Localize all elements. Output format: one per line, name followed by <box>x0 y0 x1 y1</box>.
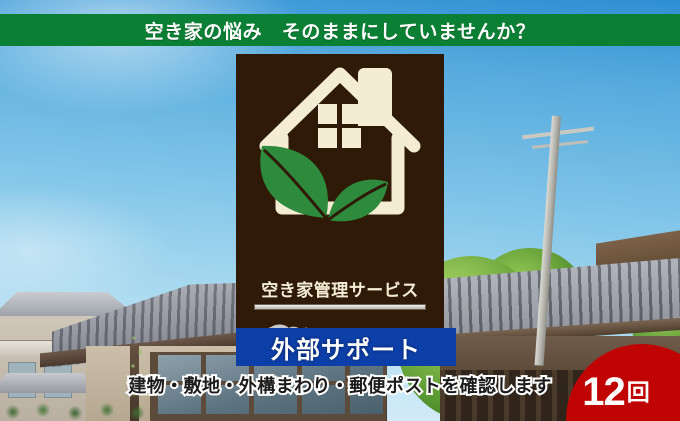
house-with-leaves-icon <box>252 62 428 224</box>
service-title: 空き家管理サービス <box>236 276 444 301</box>
hedge-front <box>0 398 155 421</box>
badge-content: 12 回 <box>582 372 650 412</box>
service-logo-card: 空き家管理サービス in小豆島 <box>236 54 444 328</box>
headline-bar: 空き家の悩み そのままにしていませんか？ <box>0 14 680 46</box>
title-divider <box>254 304 426 310</box>
headline-text: 空き家の悩み そのままにしていませんか？ <box>145 17 536 44</box>
support-band: 外部サポート <box>236 328 456 366</box>
akiya-service-banner: 空き家の悩み そのままにしていませんか？ 空き家管理サービス <box>0 0 680 421</box>
support-label: 外部サポート <box>271 330 421 365</box>
badge-unit: 回 <box>627 381 650 404</box>
badge-count: 12 <box>582 372 625 412</box>
